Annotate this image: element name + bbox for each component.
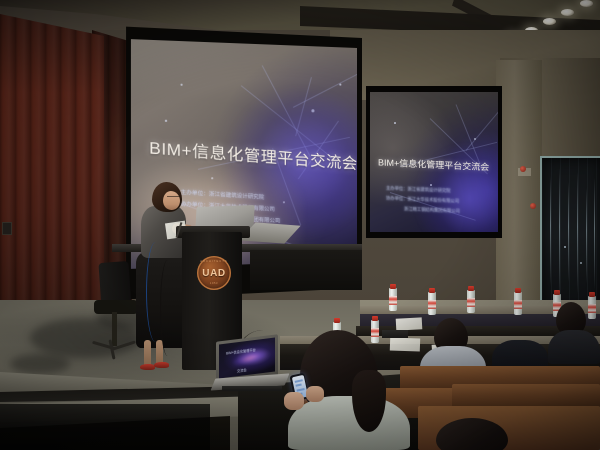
water-bottle[interactable]	[588, 292, 596, 319]
foreground-shadow	[0, 404, 210, 450]
podium-logo-year-text: 1953	[210, 282, 218, 285]
projection-screen-side: BIM+信息化管理平台交流会 主办单位：浙江省建筑设计研究院 协办单位：浙江大华…	[370, 92, 498, 232]
speaker-shoe	[140, 364, 155, 370]
podium-logo-arc-text: ARCHITECTS	[200, 260, 228, 263]
desk-papers	[390, 337, 420, 351]
audience-shoulders	[548, 330, 600, 364]
audience-bench	[452, 384, 600, 408]
water-bottle[interactable]	[514, 288, 522, 315]
podium-uad-logo: ARCHITECTS UAD 1953	[197, 256, 231, 290]
slide-subtitle-line: 浙江精工钢结构集团有限公司	[404, 206, 460, 214]
laptop-slide-text-line2: 交流会	[237, 367, 247, 373]
water-bottle[interactable]	[428, 288, 436, 315]
water-bottle[interactable]	[467, 286, 475, 313]
water-bottle[interactable]	[371, 316, 379, 343]
audience-laptop-screen: BIM+信息化管理平台 交流会	[219, 338, 275, 379]
desk-papers	[396, 317, 423, 330]
ceiling-spotlight	[561, 9, 574, 16]
laptop-stand	[222, 386, 282, 391]
ceiling-spotlight	[543, 18, 556, 25]
stage-table-body	[250, 250, 362, 290]
right-wall-pillar	[496, 60, 542, 310]
desk-notebook	[382, 330, 408, 338]
photo-scene: BIM+信息化管理平台交流会 主办单位：浙江省建筑设计研究院 协办单位：浙江大华…	[0, 0, 600, 450]
slide-subtitle-line: 协办单位：浙江大华技术股份有限公司	[386, 195, 460, 204]
foreground-audience-shoulders	[288, 396, 410, 450]
foreground-audience-hand	[306, 386, 324, 402]
alarm-indicator-icon	[530, 203, 536, 209]
power-cable	[160, 260, 175, 356]
wall-switch-plate[interactable]	[2, 222, 12, 235]
water-bottle[interactable]	[389, 284, 397, 311]
speaker-glasses-icon	[167, 196, 180, 201]
alarm-indicator-icon	[520, 166, 526, 172]
speaker-shoe	[154, 362, 169, 368]
podium-logo-text: UAD	[202, 268, 225, 279]
slide-subtitle-side: 主办单位：浙江省建筑设计研究院 协办单位：浙江大华技术股份有限公司 浙江精工钢结…	[386, 185, 460, 218]
stage-chair-post	[112, 312, 117, 346]
glass-window-panel	[540, 156, 600, 314]
foreground-audience-hand	[284, 392, 304, 410]
ceiling-spotlight	[580, 0, 593, 7]
